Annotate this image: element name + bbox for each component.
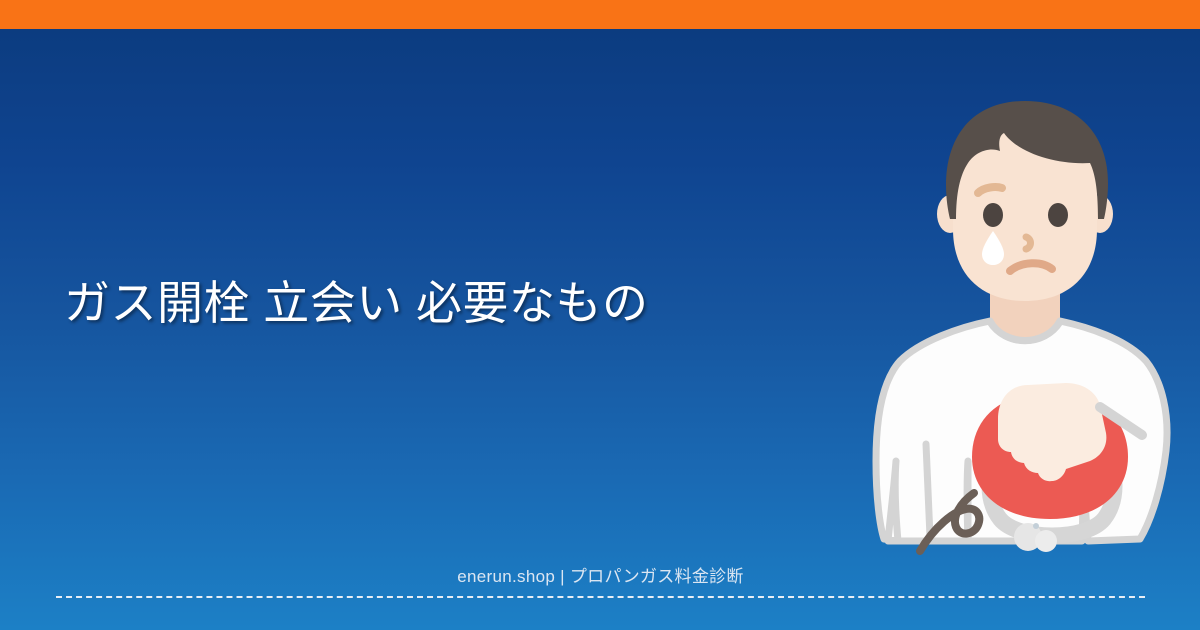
eye-right	[1048, 203, 1068, 227]
headline-container: ガス開栓 立会い 必要なもの	[64, 272, 764, 334]
footer-bar: enerun.shop | プロパンガス料金診断	[56, 562, 1145, 598]
illustration-worried-man	[850, 89, 1200, 589]
ogp-card: ガス開栓 立会い 必要なもの	[0, 0, 1200, 630]
page-title: ガス開栓 立会い 必要なもの	[64, 272, 764, 334]
main-stage: ガス開栓 立会い 必要なもの	[0, 29, 1200, 630]
footer-brand-text: enerun.shop | プロパンガス料金診断	[457, 562, 743, 587]
top-accent-bar	[0, 0, 1200, 29]
head-group	[937, 101, 1113, 301]
eye-left	[983, 203, 1003, 227]
